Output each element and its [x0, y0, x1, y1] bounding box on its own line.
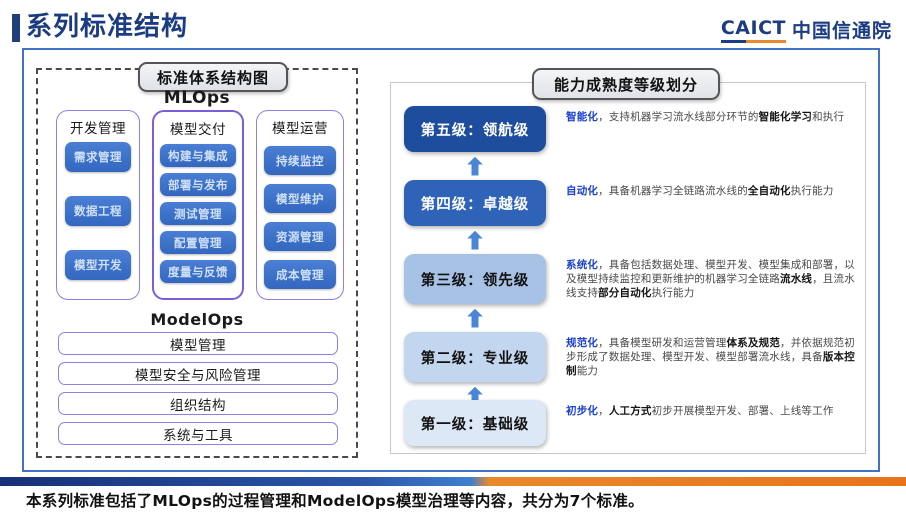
maturity-level-description: 系统化，具备包括数据处理、模型开发、模型集成和部署，以及模型持续监控和更新维护的… [566, 254, 856, 300]
maturity-level-list: 第五级：领航级智能化，支持机器学习流水线部分环节的智能化学习和执行第四级：卓越级… [390, 82, 866, 454]
maturity-level-row: 第五级：领航级智能化，支持机器学习流水线部分环节的智能化学习和执行 [404, 106, 856, 152]
caict-logo: CAICT 中国信通院 [721, 16, 892, 43]
column-model-delivery: 模型交付 构建与集成 部署与发布 测试管理 配置管理 度量与反馈 [152, 110, 244, 300]
maturity-level-box[interactable]: 第一级：基础级 [404, 400, 546, 446]
maturity-level-description: 自动化，具备机器学习全链路流水线的全自动化执行能力 [566, 180, 856, 198]
maturity-level-description: 规范化，具备模型研发和运营管理体系及规范，并依据规范初步形成了数据处理、模型开发… [566, 332, 856, 378]
chip-item[interactable]: 需求管理 [65, 142, 131, 172]
chip-item[interactable]: 成本管理 [264, 260, 336, 289]
modelops-label: ModelOps [36, 310, 358, 329]
up-arrow-icon [464, 229, 486, 251]
up-arrow-icon [464, 307, 486, 329]
column-head: 开发管理 [57, 117, 139, 137]
column-head: 模型交付 [154, 118, 242, 138]
chip-item[interactable]: 配置管理 [160, 231, 236, 254]
maturity-level-box[interactable]: 第五级：领航级 [404, 106, 546, 152]
description-keyword: 自动化 [566, 185, 598, 197]
description-keyword: 初步化 [566, 405, 598, 417]
chip-item[interactable]: 模型开发 [65, 250, 131, 280]
brand-latin-text: CAICT [721, 17, 786, 43]
chip-item[interactable]: 持续监控 [264, 146, 336, 175]
column-head: 模型运营 [257, 117, 343, 137]
footer-text: 本系列标准包括了MLOps的过程管理和ModelOps模型治理等内容，共分为7个… [26, 489, 644, 511]
footer-color-bar [0, 477, 906, 486]
description-keyword: 规范化 [566, 337, 598, 349]
page-title: 系列标准结构 [26, 10, 188, 44]
chip-item[interactable]: 度量与反馈 [160, 260, 236, 283]
column-model-operations: 模型运营 持续监控 模型维护 资源管理 成本管理 [256, 110, 344, 300]
chip-item[interactable]: 构建与集成 [160, 144, 236, 167]
up-arrow-icon [464, 155, 486, 177]
modelops-row[interactable]: 系统与工具 [58, 422, 338, 445]
maturity-level-box[interactable]: 第四级：卓越级 [404, 180, 546, 226]
chip-item[interactable]: 资源管理 [264, 222, 336, 251]
maturity-level-row: 第三级：领先级系统化，具备包括数据处理、模型开发、模型集成和部署，以及模型持续监… [404, 254, 856, 304]
brand-chinese-text: 中国信通院 [792, 16, 892, 43]
maturity-level-box[interactable]: 第三级：领先级 [404, 254, 546, 304]
page-header: 系列标准结构 CAICT 中国信通院 [0, 0, 906, 48]
description-keyword: 智能化 [566, 111, 598, 123]
modelops-row-list: 模型管理 模型安全与风险管理 组织结构 系统与工具 [58, 332, 338, 452]
title-accent-bar [12, 14, 20, 42]
modelops-row[interactable]: 模型管理 [58, 332, 338, 355]
maturity-level-box[interactable]: 第二级：专业级 [404, 332, 546, 382]
maturity-level-description: 智能化，支持机器学习流水线部分环节的智能化学习和执行 [566, 106, 856, 124]
maturity-level-row: 第一级：基础级初步化，人工方式初步开展模型开发、部署、上线等工作 [404, 400, 856, 446]
maturity-level-description: 初步化，人工方式初步开展模型开发、部署、上线等工作 [566, 400, 856, 418]
modelops-row[interactable]: 组织结构 [58, 392, 338, 415]
chip-item[interactable]: 部署与发布 [160, 173, 236, 196]
chip-item[interactable]: 数据工程 [65, 196, 131, 226]
maturity-level-row: 第四级：卓越级自动化，具备机器学习全链路流水线的全自动化执行能力 [404, 180, 856, 226]
column-development-management: 开发管理 需求管理 数据工程 模型开发 [56, 110, 140, 300]
chip-item[interactable]: 模型维护 [264, 184, 336, 213]
description-keyword: 系统化 [566, 259, 598, 271]
maturity-level-row: 第二级：专业级规范化，具备模型研发和运营管理体系及规范，并依据规范初步形成了数据… [404, 332, 856, 382]
mlops-label: MLOps [36, 88, 358, 108]
modelops-row[interactable]: 模型安全与风险管理 [58, 362, 338, 385]
chip-item[interactable]: 测试管理 [160, 202, 236, 225]
